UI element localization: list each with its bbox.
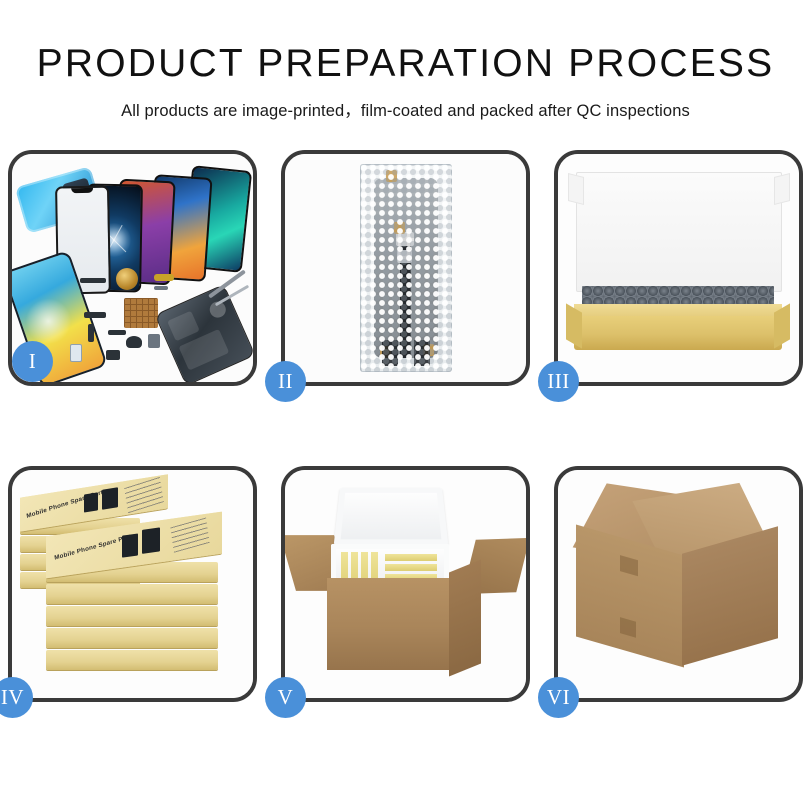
step-panel-3: III	[554, 150, 803, 386]
product-preparation-infographic: PRODUCT PREPARATION PROCESS All products…	[0, 0, 811, 811]
kraft-box-front-5	[46, 628, 218, 648]
step-numeral-2: II	[278, 369, 293, 394]
kraft-box-stack: Mobile Phone Spare Parts Mobile Pho	[18, 484, 248, 684]
step-panel-2: II	[281, 150, 530, 386]
step-numeral-3: III	[547, 369, 569, 394]
kraft-box-front-3	[46, 584, 218, 604]
foam-lid	[334, 488, 449, 546]
box-art-thumb-2	[102, 487, 118, 510]
bubble-highlights	[360, 164, 452, 372]
step-4-image: Mobile Phone Spare Parts Mobile Pho	[12, 470, 253, 698]
step-6-image	[558, 470, 799, 698]
antenna-part	[108, 330, 126, 335]
mailer-box-lid	[576, 172, 782, 292]
phone-back-housing	[154, 284, 253, 382]
box-art-thumb-4	[142, 527, 160, 554]
step-numeral-4: IV	[1, 685, 24, 710]
step-panel-1: I	[8, 150, 257, 386]
step-badge-3: III	[538, 361, 579, 402]
flex-strip-part	[88, 324, 94, 342]
kraft-box-front-6	[46, 650, 218, 670]
process-steps-grid: I	[0, 150, 811, 702]
step-5-image	[285, 470, 526, 698]
speaker-part	[80, 278, 106, 283]
page-subtitle: All products are image-printed，film-coat…	[0, 97, 811, 121]
small-bracket-part	[154, 286, 168, 290]
step-badge-1: I	[12, 341, 53, 382]
carton-tape-upper	[620, 555, 638, 576]
step-numeral-6: VI	[547, 685, 570, 710]
step-panel-5: V	[281, 466, 530, 702]
step-badge-2: II	[265, 361, 306, 402]
camera-module-part	[148, 334, 160, 348]
step-numeral-5: V	[278, 685, 294, 710]
mailer-box-front	[574, 316, 782, 350]
carton-tape-lower	[620, 617, 636, 638]
bubble-wrap-bag	[360, 164, 452, 372]
step-panel-6: VI	[554, 466, 803, 702]
sim-tray-part	[70, 344, 82, 362]
box-art-thumb-1	[84, 492, 98, 512]
step-badge-6: VI	[538, 677, 579, 718]
kraft-box-front-4	[46, 606, 218, 626]
step-panel-4: Mobile Phone Spare Parts Mobile Pho	[8, 466, 257, 702]
step-2-image	[285, 154, 526, 382]
gold-connector-part	[154, 274, 174, 281]
page-title: PRODUCT PREPARATION PROCESS	[0, 44, 811, 85]
logic-board-part	[124, 298, 158, 328]
earpiece-part	[126, 336, 142, 348]
header: PRODUCT PREPARATION PROCESS All products…	[0, 0, 811, 121]
step-numeral-1: I	[29, 349, 37, 374]
screw-plate-part	[106, 350, 120, 360]
yellow-box-h1	[385, 554, 437, 561]
yellow-box-h2	[385, 564, 437, 571]
step-3-image	[558, 154, 799, 382]
box-art-thumb-3	[122, 533, 138, 557]
step-badge-5: V	[265, 677, 306, 718]
step-badge-4: IV	[0, 677, 33, 718]
vibration-motor-part	[116, 268, 138, 290]
flex-cable-part	[84, 312, 106, 318]
carton-body	[327, 578, 451, 670]
